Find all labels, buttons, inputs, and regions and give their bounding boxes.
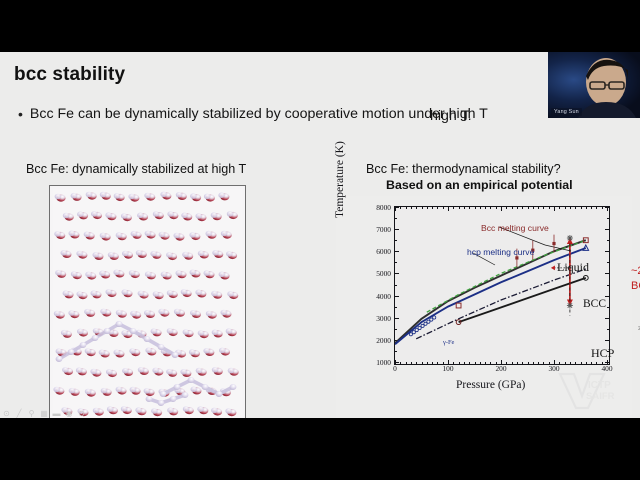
ictp-saifr-watermark-logo: ICTP SAIFR — [558, 370, 634, 412]
bullet-text: Bcc Fe can be dynamically stabilized by … — [30, 106, 488, 122]
left-panel-caption: Bcc Fe: dynamically stabilized at high T — [26, 162, 246, 176]
chart-y-axis-label: Temperature (K) — [334, 141, 346, 218]
svg-text:ICTP: ICTP — [588, 380, 611, 391]
annotation-bcc-melting-curve: Bcc melting curve — [481, 223, 549, 233]
chart-x-axis-label: Pressure (GPa) — [456, 379, 525, 391]
annotation-liquid-region: Liquid — [557, 260, 589, 275]
annotation-2000k: ~2000 K — [631, 265, 640, 277]
annotation-hcp-region: HCP — [591, 346, 614, 361]
annotation-bcc-region-question: BCC region? — [631, 280, 640, 292]
bullet-marker: • — [18, 106, 23, 122]
webcam-pip-panel[interactable]: Yang Sun — [548, 52, 640, 118]
md-lattice — [53, 189, 242, 418]
screen: bcc stability • Bcc Fe can be dynamicall… — [0, 0, 640, 480]
bullet-ghost-text: high T. — [430, 108, 472, 124]
page-title: bcc stability — [14, 64, 125, 86]
presentation-slide: bcc stability • Bcc Fe can be dynamicall… — [0, 52, 640, 418]
bullet-item: • Bcc Fe can be dynamically stabilized b… — [18, 106, 618, 122]
right-panel-caption-line2: Based on an empirical potential — [386, 178, 573, 192]
annotation-icon[interactable]: ⊙ — [2, 409, 11, 418]
settings-icon[interactable]: ⊙ — [77, 409, 86, 418]
chart-plot-area: 1000200030004000500060007000800001002003… — [394, 206, 610, 365]
annotation-hcp-melting-curve: hcp melting curve — [467, 247, 534, 257]
webcam-participant-name: Yang Sun — [551, 108, 582, 116]
annotation-bcc-region: BCC — [583, 298, 606, 310]
viewer-toolbar[interactable]: ⊙╱⚲▦▬◉⊙ — [2, 406, 86, 420]
grid-view-icon[interactable]: ▦ — [40, 409, 49, 418]
record-icon[interactable]: ◉ — [65, 409, 74, 418]
md-atom-lattice — [53, 189, 242, 418]
annotation-gamma-fe: γ-Fe — [443, 339, 454, 346]
svg-text:SAIFR: SAIFR — [586, 391, 615, 402]
pen-icon[interactable]: ╱ — [15, 409, 24, 418]
magnifier-icon[interactable]: ⚲ — [27, 409, 36, 418]
video-icon[interactable]: ▬ — [52, 409, 61, 418]
right-panel-caption-line1: Bcc Fe: thermodynamical stability? — [366, 162, 561, 176]
molecular-dynamics-figure — [49, 185, 246, 418]
